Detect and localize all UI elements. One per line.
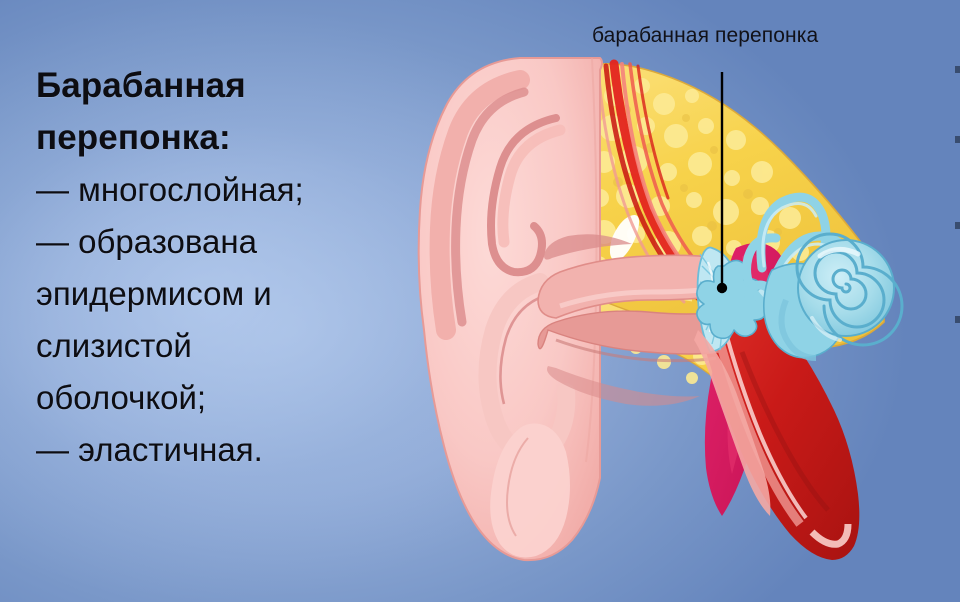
slide-canvas: барабанная перепонка Барабанная перепонк…	[0, 0, 960, 602]
text-item-5: оболочкой;	[36, 372, 416, 424]
text-block: Барабанная перепонка: — многослойная; — …	[36, 60, 416, 476]
callout-label: барабанная перепонка	[592, 24, 818, 48]
text-item-4: слизистой	[36, 320, 416, 372]
text-item-6: — эластичная.	[36, 424, 416, 476]
text-title-line-1: Барабанная	[36, 60, 416, 112]
text-item-1: — многослойная;	[36, 164, 416, 216]
text-title-line-2: перепонка:	[36, 112, 416, 164]
text-item-3: эпидермисом и	[36, 268, 416, 320]
text-item-2: — образована	[36, 216, 416, 268]
